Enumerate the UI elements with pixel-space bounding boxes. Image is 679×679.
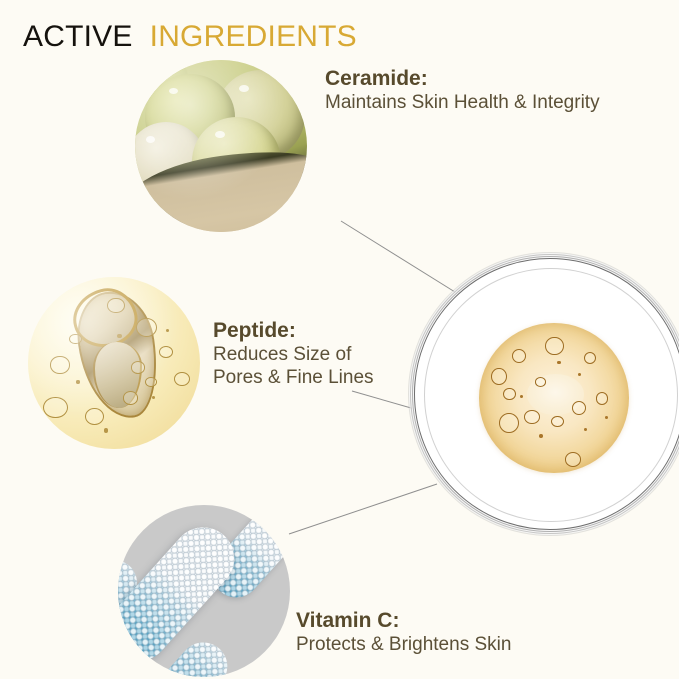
serum-speck <box>578 373 581 376</box>
ceramide-description: Maintains Skin Health & Integrity <box>325 91 600 114</box>
ceramide-image <box>135 60 307 232</box>
vitamin-c-title: Vitamin C: <box>296 608 511 633</box>
petri-dish-image <box>414 258 679 530</box>
serum-bubble <box>545 337 563 355</box>
peptide-speck <box>104 428 108 432</box>
serum-bubble <box>535 377 546 386</box>
ceramide-title: Ceramide: <box>325 66 600 91</box>
serum-bubble <box>551 416 563 427</box>
infographic-canvas: ACTIVE INGREDIENTS <box>0 0 679 679</box>
peptide-bubble <box>123 391 139 405</box>
serum-bubble <box>524 410 539 424</box>
peptide-bubble <box>69 334 81 345</box>
caption-peptide: Peptide: Reduces Size of Pores & Fine Li… <box>213 318 374 390</box>
serum-bubble <box>565 452 582 467</box>
peptide-title: Peptide: <box>213 318 374 343</box>
serum-bubble <box>491 368 506 385</box>
serum-bubble <box>512 349 526 363</box>
serum-bubble <box>572 401 586 415</box>
peptide-bubble <box>159 346 173 358</box>
vitamin-c-description: Protects & Brightens Skin <box>296 633 511 656</box>
peptide-bubble <box>107 298 124 314</box>
serum-speck <box>584 428 587 431</box>
serum-speck <box>520 395 523 398</box>
serum-bubble <box>596 392 608 404</box>
peptide-speck <box>166 329 169 332</box>
serum-speck <box>557 361 561 365</box>
peptide-description-line-1: Reduces Size of <box>213 343 374 366</box>
serum-droplet <box>479 323 629 473</box>
serum-bubble <box>499 413 519 433</box>
peptide-speck <box>117 334 121 338</box>
title-word-active: ACTIVE <box>23 20 133 53</box>
serum-speck <box>539 434 543 438</box>
peptide-image <box>28 277 200 449</box>
caption-vitamin-c: Vitamin C: Protects & Brightens Skin <box>296 608 511 656</box>
page-title: ACTIVE INGREDIENTS <box>23 20 357 54</box>
peptide-bubble <box>50 356 69 373</box>
peptide-description-line-2: Pores & Fine Lines <box>213 366 374 389</box>
serum-speck <box>605 416 608 419</box>
caption-ceramide: Ceramide: Maintains Skin Health & Integr… <box>325 66 600 114</box>
serum-bubble <box>584 352 596 364</box>
serum-bubble <box>503 388 515 400</box>
title-word-ingredients: INGREDIENTS <box>150 20 357 53</box>
vitamin-c-image <box>118 505 290 677</box>
peptide-bubble <box>85 408 104 425</box>
peptide-speck <box>76 380 79 383</box>
peptide-bubble <box>174 372 190 386</box>
peptide-bubble <box>131 361 145 373</box>
